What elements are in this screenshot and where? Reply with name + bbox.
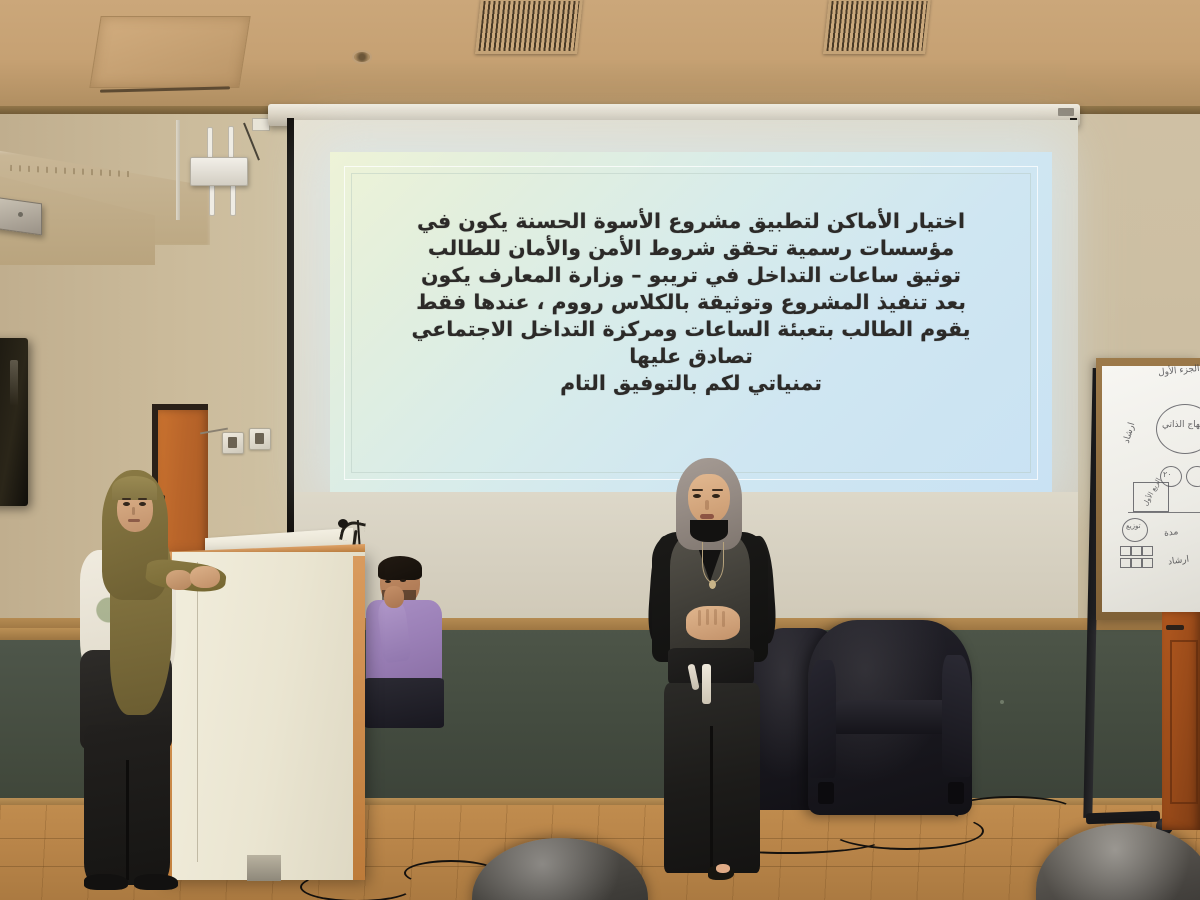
necklace-pendant xyxy=(709,580,716,589)
shoe xyxy=(84,874,128,890)
whiteboard-note: توزيع xyxy=(1126,522,1141,530)
presenter-hands xyxy=(686,606,740,640)
wifi-antenna xyxy=(209,183,215,216)
wall-outlet[interactable] xyxy=(222,432,244,454)
roller-end-cap xyxy=(1058,108,1074,116)
ceiling-access-hatch xyxy=(89,16,250,88)
speaker-screw xyxy=(18,212,23,217)
eyebrow xyxy=(712,489,723,491)
whiteboard-note: مدة xyxy=(1163,527,1179,539)
whiteboard-note: ٢٠ xyxy=(1163,470,1172,479)
whiteboard-box xyxy=(1120,558,1131,568)
eye xyxy=(139,502,146,506)
mouth xyxy=(128,519,140,522)
cabinet-handle[interactable] xyxy=(1166,625,1184,630)
eyebrow xyxy=(138,498,147,500)
armchair-seat[interactable] xyxy=(832,700,954,734)
presenter-foot xyxy=(716,864,730,873)
wifi-antenna xyxy=(230,183,236,216)
armchair-armrest xyxy=(942,655,972,777)
eye xyxy=(123,502,130,506)
eye xyxy=(400,579,406,582)
nose xyxy=(132,507,135,515)
necklace xyxy=(702,542,724,583)
tv-reflection xyxy=(10,360,18,406)
wifi-access-point xyxy=(190,157,248,186)
lecture-hall-photo: اختيار الأماكن لتطبيق مشروع الأسوة الحسن… xyxy=(0,0,1200,900)
armchair-armrest xyxy=(808,660,836,778)
seated-man-trousers xyxy=(364,678,444,728)
armchair-leg xyxy=(948,782,964,804)
hijab-headband xyxy=(112,476,157,500)
eyebrow xyxy=(122,498,131,500)
whiteboard-box xyxy=(1120,546,1131,556)
whiteboard-box xyxy=(1131,558,1142,568)
whiteboard-box xyxy=(1131,546,1142,556)
armchair-leg xyxy=(818,782,834,804)
slide-line: تصادق عليها xyxy=(346,343,1036,370)
microphone-icon[interactable] xyxy=(338,519,348,528)
cabinet-panel xyxy=(1170,640,1198,804)
slide-line: تمنياتي لكم بالتوفيق التام xyxy=(346,370,1036,397)
nose xyxy=(705,500,709,510)
trouser-drawstring xyxy=(702,664,711,704)
slide-line: اختيار الأماكن لتطبيق مشروع الأسوة الحسن… xyxy=(346,208,1036,235)
hand xyxy=(166,570,192,590)
whiteboard-underline xyxy=(1128,512,1200,513)
seated-man-hand xyxy=(384,586,404,608)
slide-line: توثيق ساعات التداخل في تريبو – وزارة الم… xyxy=(346,262,1036,289)
whiteboard-box xyxy=(1142,558,1153,568)
ceiling-downlight xyxy=(352,50,372,64)
wainscot-fastener xyxy=(1000,700,1004,704)
hand xyxy=(190,566,220,588)
presenter xyxy=(624,458,804,900)
ceiling-vent-right xyxy=(823,0,931,54)
wall-conduit xyxy=(176,120,180,220)
wall-outlet[interactable] xyxy=(249,428,271,450)
whiteboard-note: المنهاج الذاتي xyxy=(1162,420,1200,430)
eye xyxy=(385,580,391,583)
seated-man xyxy=(358,560,470,720)
seated-man-hair xyxy=(378,556,422,580)
slide-line: بعد تنفيذ المشروع وتوثيقة بالكلاس رووم ،… xyxy=(346,289,1036,316)
eye xyxy=(712,494,720,498)
slide-line: يقوم الطالب بتعبئة الساعات ومركزة التداخ… xyxy=(346,316,1036,343)
eye xyxy=(693,494,701,498)
trouser-seam xyxy=(126,760,129,880)
ceiling-vent-left xyxy=(475,0,583,54)
lectern-foot xyxy=(247,855,281,881)
slide-line: مؤسسات رسمية تحقق شروط الأمن والأمان للط… xyxy=(346,235,1036,262)
lectern-right-trim xyxy=(353,556,365,880)
shoe xyxy=(134,874,178,890)
mouth xyxy=(700,514,714,519)
trouser-seam xyxy=(710,726,713,874)
eyebrow xyxy=(692,489,703,491)
slide-text-block: اختيار الأماكن لتطبيق مشروع الأسوة الحسن… xyxy=(346,208,1036,397)
woman-at-podium xyxy=(62,470,232,890)
presenter-collar xyxy=(690,520,728,542)
whiteboard-box xyxy=(1142,546,1153,556)
